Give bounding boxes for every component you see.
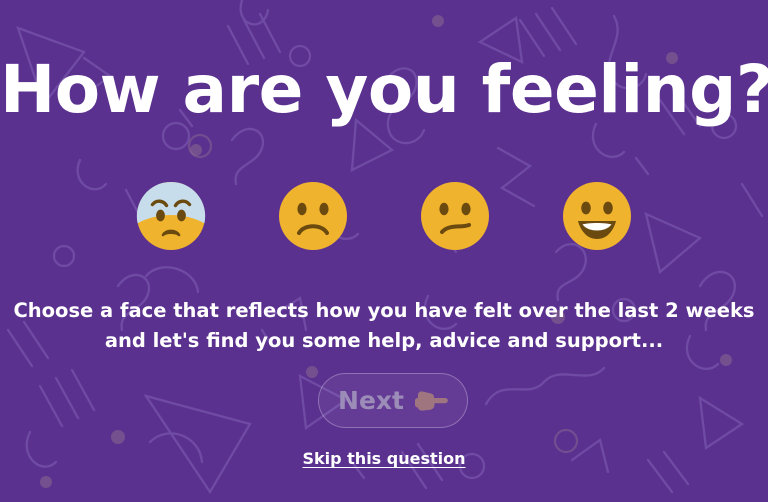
pointing-right-hand-icon [414, 386, 448, 416]
face-option-frowning[interactable] [277, 180, 349, 252]
next-button[interactable]: Next [318, 373, 468, 428]
face-option-confused[interactable] [419, 180, 491, 252]
skip-question-link[interactable]: Skip this question [0, 449, 768, 468]
page-title: How are you feeling? [0, 52, 768, 128]
anxious-face-icon [135, 180, 207, 252]
frowning-face-icon [277, 180, 349, 252]
face-option-grinning[interactable] [561, 180, 633, 252]
feeling-survey-screen: How are you feeling? [0, 0, 768, 502]
prompt-text: Choose a face that reflects how you have… [0, 296, 768, 356]
confused-face-icon [419, 180, 491, 252]
face-options-row [0, 178, 768, 254]
face-option-anxious[interactable] [135, 180, 207, 252]
next-button-label: Next [338, 386, 404, 415]
grinning-face-icon [561, 180, 633, 252]
